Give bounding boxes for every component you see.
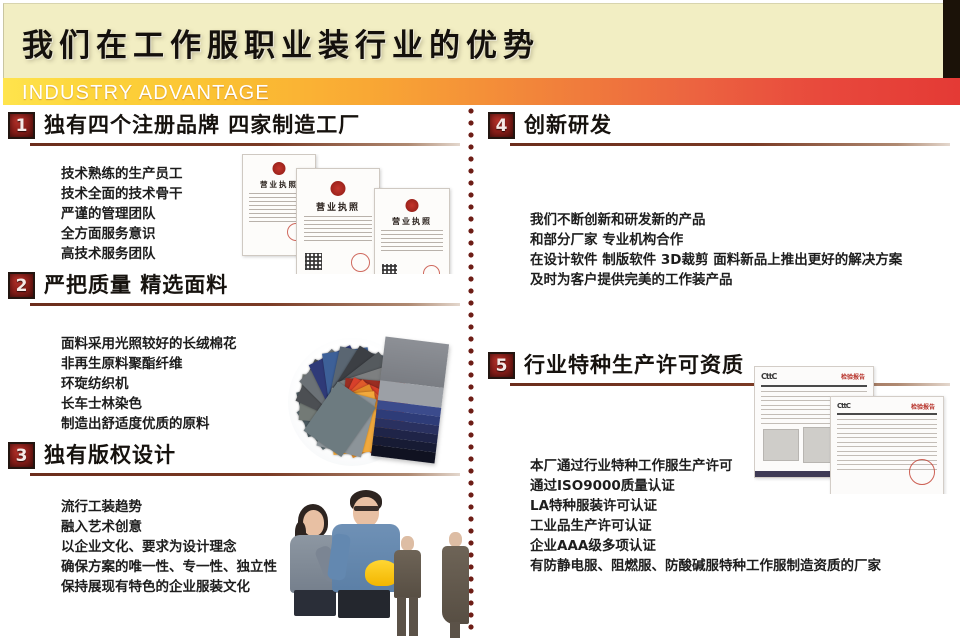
section-5-number-badge: 5 <box>488 352 515 379</box>
figure-head-icon <box>449 532 462 547</box>
section-1-line-4: 全方面服务意识 <box>61 224 183 244</box>
page-header: 我们在工作服职业装行业的优势 INDUSTRY ADVANTAGE <box>0 0 960 105</box>
section-3-line-2: 融入艺术创意 <box>61 517 277 537</box>
face-icon <box>353 497 379 527</box>
section-1-line-1: 技术熟练的生产员工 <box>61 164 183 184</box>
certificate-2-red-stamp-icon <box>351 253 370 272</box>
certificate-3: 营业执照 <box>374 188 450 274</box>
certificate-2-text-lines <box>304 216 373 244</box>
face-icon <box>303 510 324 536</box>
certificate-seal-icon <box>331 181 346 196</box>
section-1-line-3: 严谨的管理团队 <box>61 204 183 224</box>
figure-head-icon <box>401 536 414 551</box>
section-5-line-2: 通过ISO9000质量认证 <box>530 476 881 496</box>
section-3-line-5: 保持展现有特色的企业服装文化 <box>61 577 277 597</box>
section-3-line-4: 确保方案的唯一性、专一性、独立性 <box>61 557 277 577</box>
certificate-seal-icon <box>406 199 419 212</box>
figure-jacket <box>394 550 421 598</box>
section-4-line-1: 我们不断创新和研发新的产品 <box>530 210 902 230</box>
section-2-rule <box>30 303 460 306</box>
section-3-title: 独有版权设计 <box>44 439 176 469</box>
section-3-line-3: 以企业文化、要求为设计理念 <box>61 537 277 557</box>
report-2-divider <box>837 413 937 415</box>
section-1-rule <box>30 143 460 146</box>
section-3-line-1: 流行工装趋势 <box>61 497 277 517</box>
section-2-line-4: 长车士林染色 <box>61 394 237 414</box>
section-5-line-5: 企业AAA级多项认证 <box>530 536 881 556</box>
section-3-image-models <box>280 480 478 640</box>
certificate-3-title: 营业执照 <box>375 216 449 227</box>
section-3-body: 流行工装趋势 融入艺术创意 以企业文化、要求为设计理念 确保方案的唯一性、专一性… <box>61 497 277 597</box>
section-2-line-1: 面料采用光照较好的长绒棉花 <box>61 334 237 354</box>
slide-page: 我们在工作服职业装行业的优势 INDUSTRY ADVANTAGE 1 独有四个… <box>0 0 960 635</box>
section-4-line-3: 在设计软件 制版软件 3D裁剪 面料新品上推出更好的解决方案 <box>530 250 902 270</box>
section-5-body: 本厂通过行业特种工作服生产许可 通过ISO9000质量认证 LA特种服装许可认证… <box>530 456 881 576</box>
section-1-line-5: 高技术服务团队 <box>61 244 183 264</box>
section-2-line-3: 环琁纺织机 <box>61 374 237 394</box>
section-2-line-2: 非再生原料聚酯纤维 <box>61 354 237 374</box>
report-2-logo: CttC <box>837 402 850 410</box>
section-1-image-certificates: 营业执照 营业执照 营业执照 <box>230 154 470 274</box>
section-4: 4 创新研发 我们不断创新和研发新的产品 和部分厂家 专业机构合作 在设计软件 … <box>488 112 954 292</box>
uniform-figure-2 <box>438 532 472 638</box>
section-1-body: 技术熟练的生产员工 技术全面的技术骨干 严谨的管理团队 全方面服务意识 高技术服… <box>61 164 183 264</box>
male-trousers <box>338 590 390 618</box>
section-3: 3 独有版权设计 流行工装趋势 融入艺术创意 以企业文化、要求为设计理念 确保方… <box>8 442 460 632</box>
section-4-header: 4 创新研发 <box>488 112 954 152</box>
section-4-line-4: 及时为客户提供完美的工作装产品 <box>530 270 902 290</box>
certificate-2-qr-code-icon <box>305 253 322 270</box>
section-5-line-4: 工业品生产许可认证 <box>530 516 881 536</box>
report-2-red-heading: 检验报告 <box>911 402 935 411</box>
section-2-number-badge: 2 <box>8 272 35 299</box>
section-4-rule <box>510 143 950 146</box>
section-2-line-5: 制造出舒适度优质的原料 <box>61 414 237 434</box>
section-1-header: 1 独有四个注册品牌 四家制造工厂 <box>8 112 460 152</box>
figure-leg <box>409 597 418 636</box>
header-right-accent-bar <box>943 0 960 80</box>
section-5-line-1: 本厂通过行业特种工作服生产许可 <box>530 456 881 476</box>
section-1-title: 独有四个注册品牌 四家制造工厂 <box>44 109 360 139</box>
section-4-title: 创新研发 <box>524 109 612 139</box>
section-2-header: 2 严把质量 精选面料 <box>8 272 460 312</box>
section-5-line-3: LA特种服装许可认证 <box>530 496 881 516</box>
section-4-number-badge: 4 <box>488 112 515 139</box>
section-2-title: 严把质量 精选面料 <box>44 269 228 299</box>
certificate-3-text-lines <box>381 230 443 254</box>
report-1-divider <box>761 385 867 387</box>
section-2-body: 面料采用光照较好的长绒棉花 非再生原料聚酯纤维 环琁纺织机 长车士林染色 制造出… <box>61 334 237 434</box>
section-5-title: 行业特种生产许可资质 <box>524 349 744 379</box>
section-5: 5 行业特种生产许可资质 CttC 检验报告 CttC 检验报告 <box>488 352 954 592</box>
certificate-2: 营业执照 <box>296 168 380 274</box>
section-1: 1 独有四个注册品牌 四家制造工厂 技术熟练的生产员工 技术全面的技术骨干 严谨… <box>8 112 460 262</box>
section-3-number-badge: 3 <box>8 442 35 469</box>
figure-leg <box>450 622 460 638</box>
section-3-rule <box>30 473 460 476</box>
certificate-seal-icon <box>273 162 286 175</box>
report-2-red-stamp-icon <box>909 459 935 485</box>
section-3-header: 3 独有版权设计 <box>8 442 460 482</box>
section-1-line-2: 技术全面的技术骨干 <box>61 184 183 204</box>
section-5-line-6: 有防静电服、阻燃服、防酸碱服特种工作服制造资质的厂家 <box>530 556 881 576</box>
page-subtitle-en: INDUSTRY ADVANTAGE <box>22 82 270 105</box>
certificate-2-title: 营业执照 <box>297 200 379 213</box>
report-1-red-heading: 检验报告 <box>841 372 865 381</box>
figure-long-coat <box>442 546 469 624</box>
section-4-line-2: 和部分厂家 专业机构合作 <box>530 230 902 250</box>
section-4-body: 我们不断创新和研发新的产品 和部分厂家 专业机构合作 在设计软件 制版软件 3D… <box>530 210 902 290</box>
report-1-logo: CttC <box>761 372 776 381</box>
section-2: 2 严把质量 精选面料 面料采用光照较好的长绒棉花 非再生原料聚酯纤维 环琁纺织… <box>8 272 460 432</box>
figure-leg <box>397 597 406 636</box>
page-title: 我们在工作服职业装行业的优势 <box>22 20 540 65</box>
glasses-icon <box>354 506 379 511</box>
section-1-number-badge: 1 <box>8 112 35 139</box>
uniform-figure-1 <box>390 536 424 636</box>
